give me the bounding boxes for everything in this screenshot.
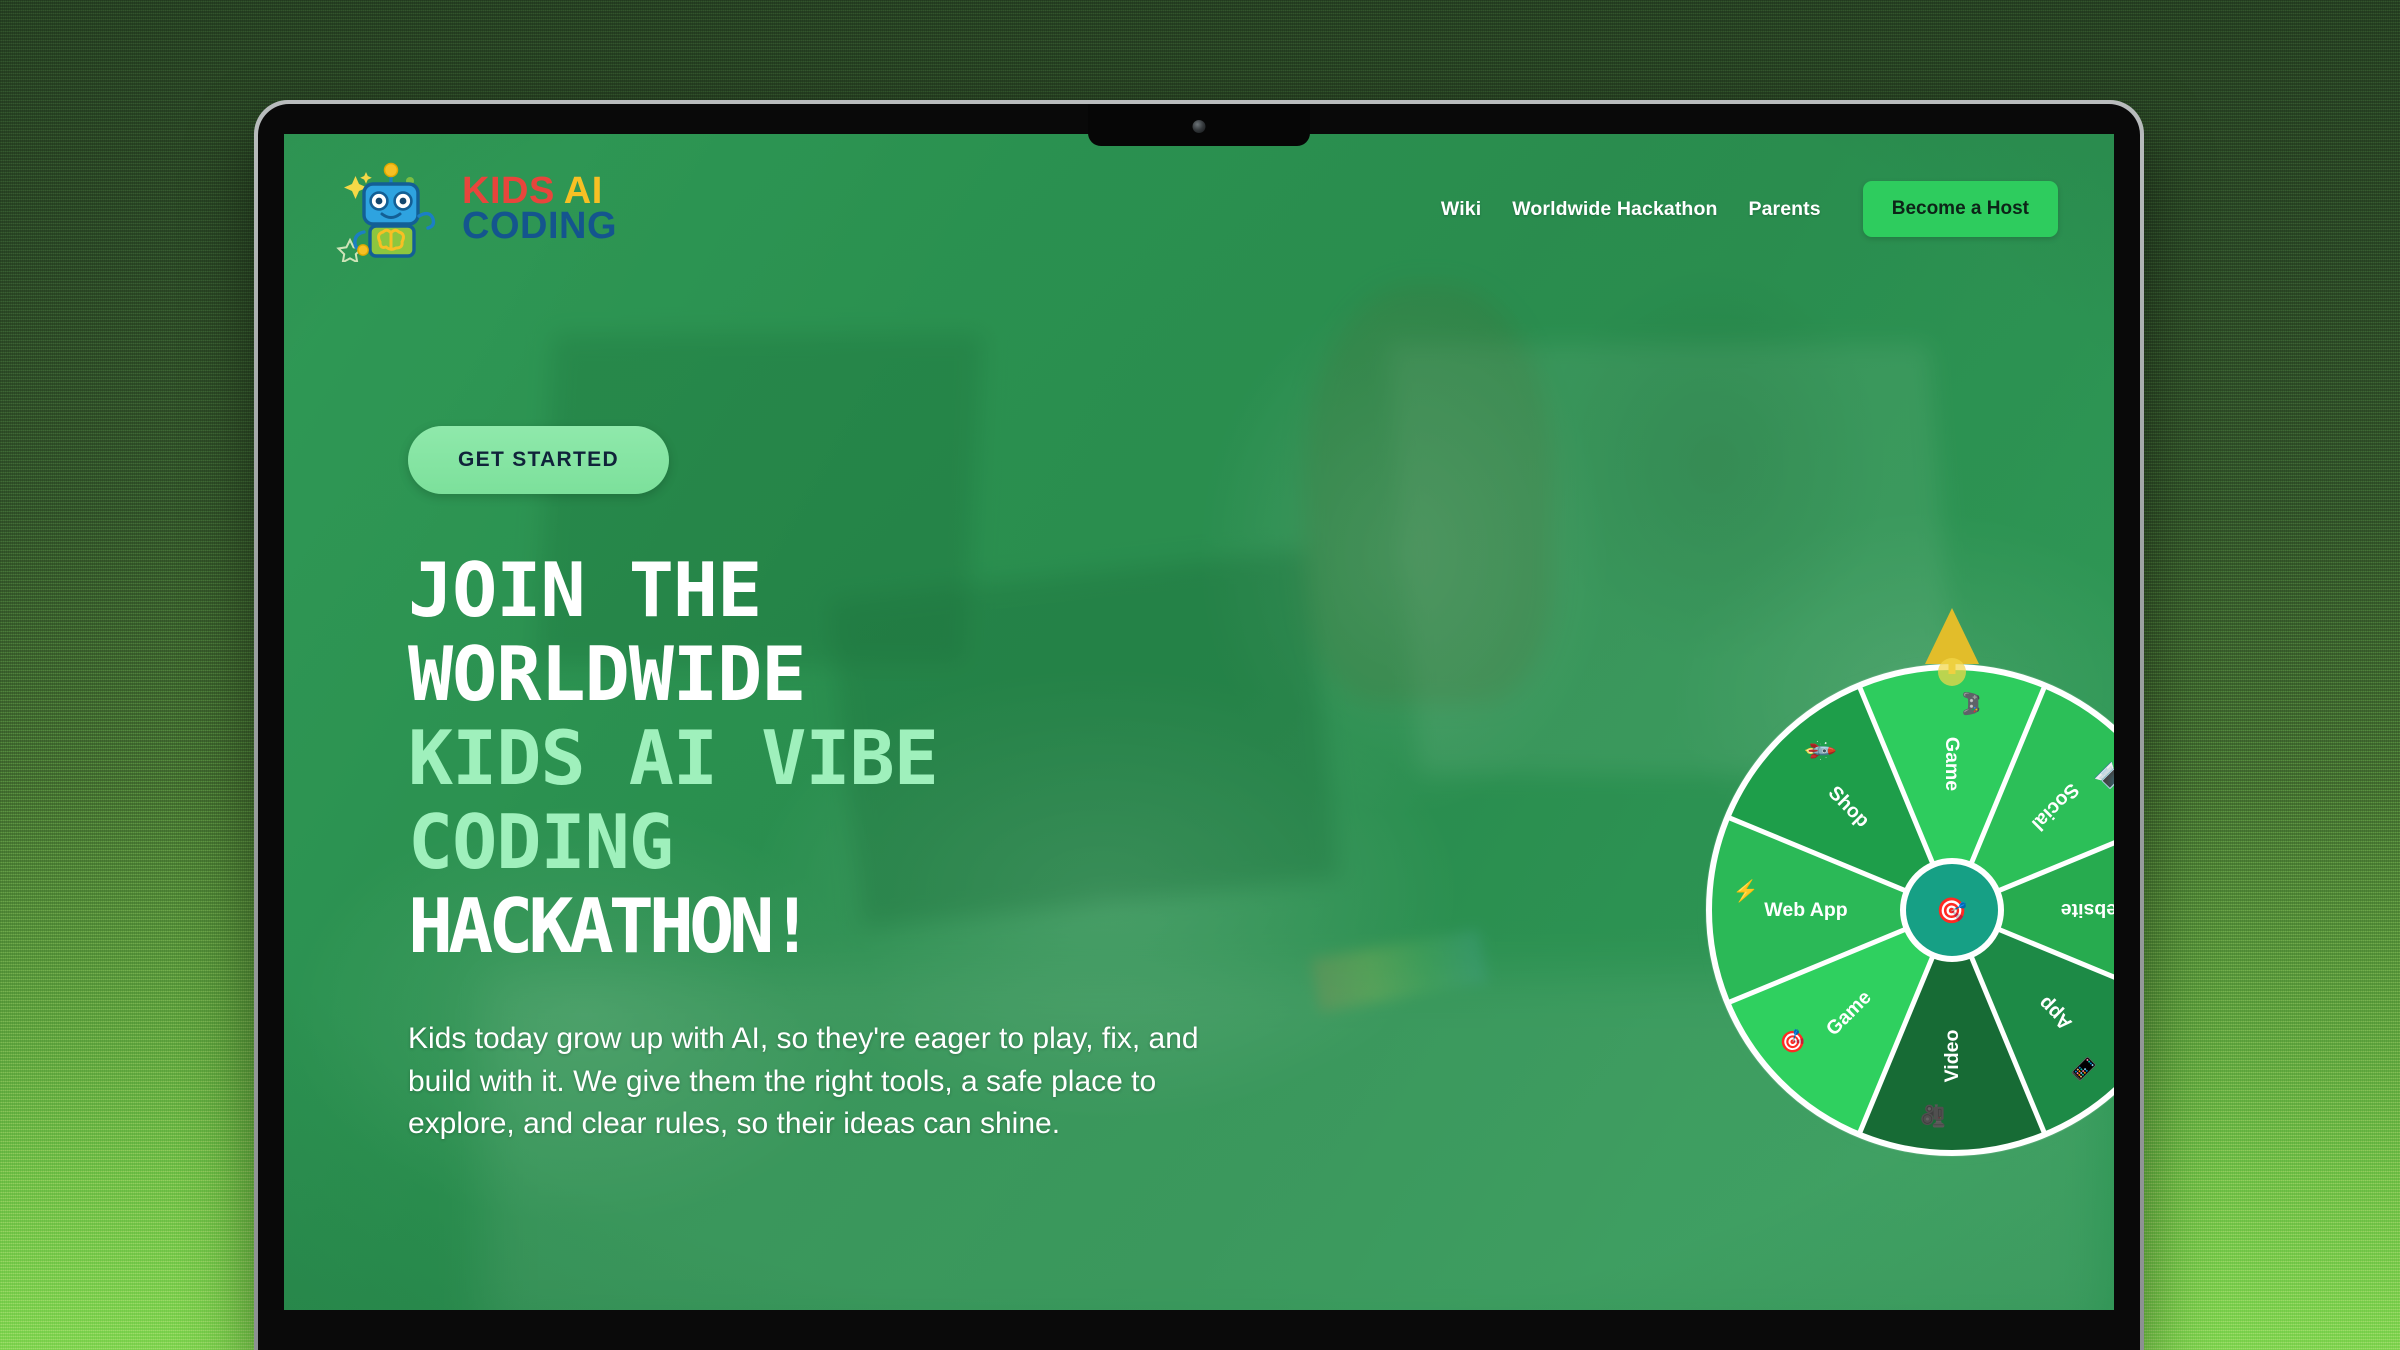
- wheel-segment-label: Game: [1941, 737, 1963, 791]
- page-title: JOIN THE WORLDWIDE KIDS AI VIBE CODING H…: [408, 548, 1328, 968]
- headline-line-5: HACKATHON!: [408, 884, 1328, 968]
- become-a-host-button[interactable]: Become a Host: [1863, 181, 2058, 237]
- main-navigation: Wiki Worldwide Hackathon Parents Become …: [1441, 181, 2058, 237]
- camera-icon: [1193, 120, 1206, 133]
- headline-line-3: KIDS AI VIBE: [408, 716, 1328, 800]
- site-header: KIDSAI CODING Wiki Worldwide Hackathon P…: [284, 134, 2114, 284]
- laptop-bezel: KIDSAI CODING Wiki Worldwide Hackathon P…: [258, 104, 2140, 1350]
- hub-target-icon: 🎯: [1936, 897, 1967, 925]
- prize-wheel[interactable]: 🎮Game💻Social🌐Website📱App🎥Video🎯Game⚡Web …: [1692, 602, 2114, 1162]
- headline-line-2: WORLDWIDE: [408, 632, 1328, 716]
- wheel-segment-emoji: 🎮: [1959, 691, 1982, 717]
- nav-link-wiki[interactable]: Wiki: [1441, 198, 1481, 221]
- wheel-segment-emoji: ⚡: [1733, 878, 1759, 904]
- nav-link-worldwide-hackathon[interactable]: Worldwide Hackathon: [1512, 198, 1717, 221]
- get-started-button[interactable]: GET STARTED: [408, 426, 669, 494]
- logo-wordmark: KIDSAI CODING: [462, 174, 617, 245]
- page-backdrop: KIDSAI CODING Wiki Worldwide Hackathon P…: [0, 0, 2400, 1350]
- wheel-segment-emoji: 🎥: [1920, 1103, 1945, 1129]
- logo-coding-text: CODING: [462, 209, 617, 244]
- wheel-segment-label: Website: [2061, 899, 2114, 921]
- robot-icon: [336, 156, 446, 262]
- site-logo[interactable]: KIDSAI CODING: [336, 156, 617, 262]
- headline-line-4: CODING: [408, 800, 1328, 884]
- nav-link-parents[interactable]: Parents: [1748, 198, 1820, 221]
- laptop-screen: KIDSAI CODING Wiki Worldwide Hackathon P…: [284, 134, 2114, 1314]
- triangle-pointer-icon: [1917, 602, 1987, 688]
- headline-line-1: JOIN THE: [408, 548, 1328, 632]
- hero-content: GET STARTED JOIN THE WORLDWIDE KIDS AI V…: [408, 426, 1328, 1146]
- laptop-notch: [1088, 104, 1310, 146]
- laptop-frame: KIDSAI CODING Wiki Worldwide Hackathon P…: [254, 100, 2144, 1350]
- hero-paragraph: Kids today grow up with AI, so they're e…: [408, 1018, 1208, 1146]
- laptop-lower-bezel: [258, 1310, 2140, 1350]
- wheel-segment-label: Web App: [1764, 899, 1847, 921]
- wheel-svg[interactable]: 🎮Game💻Social🌐Website📱App🎥Video🎯Game⚡Web …: [1702, 660, 2114, 1160]
- wheel-segment-label: Video: [1941, 1030, 1963, 1083]
